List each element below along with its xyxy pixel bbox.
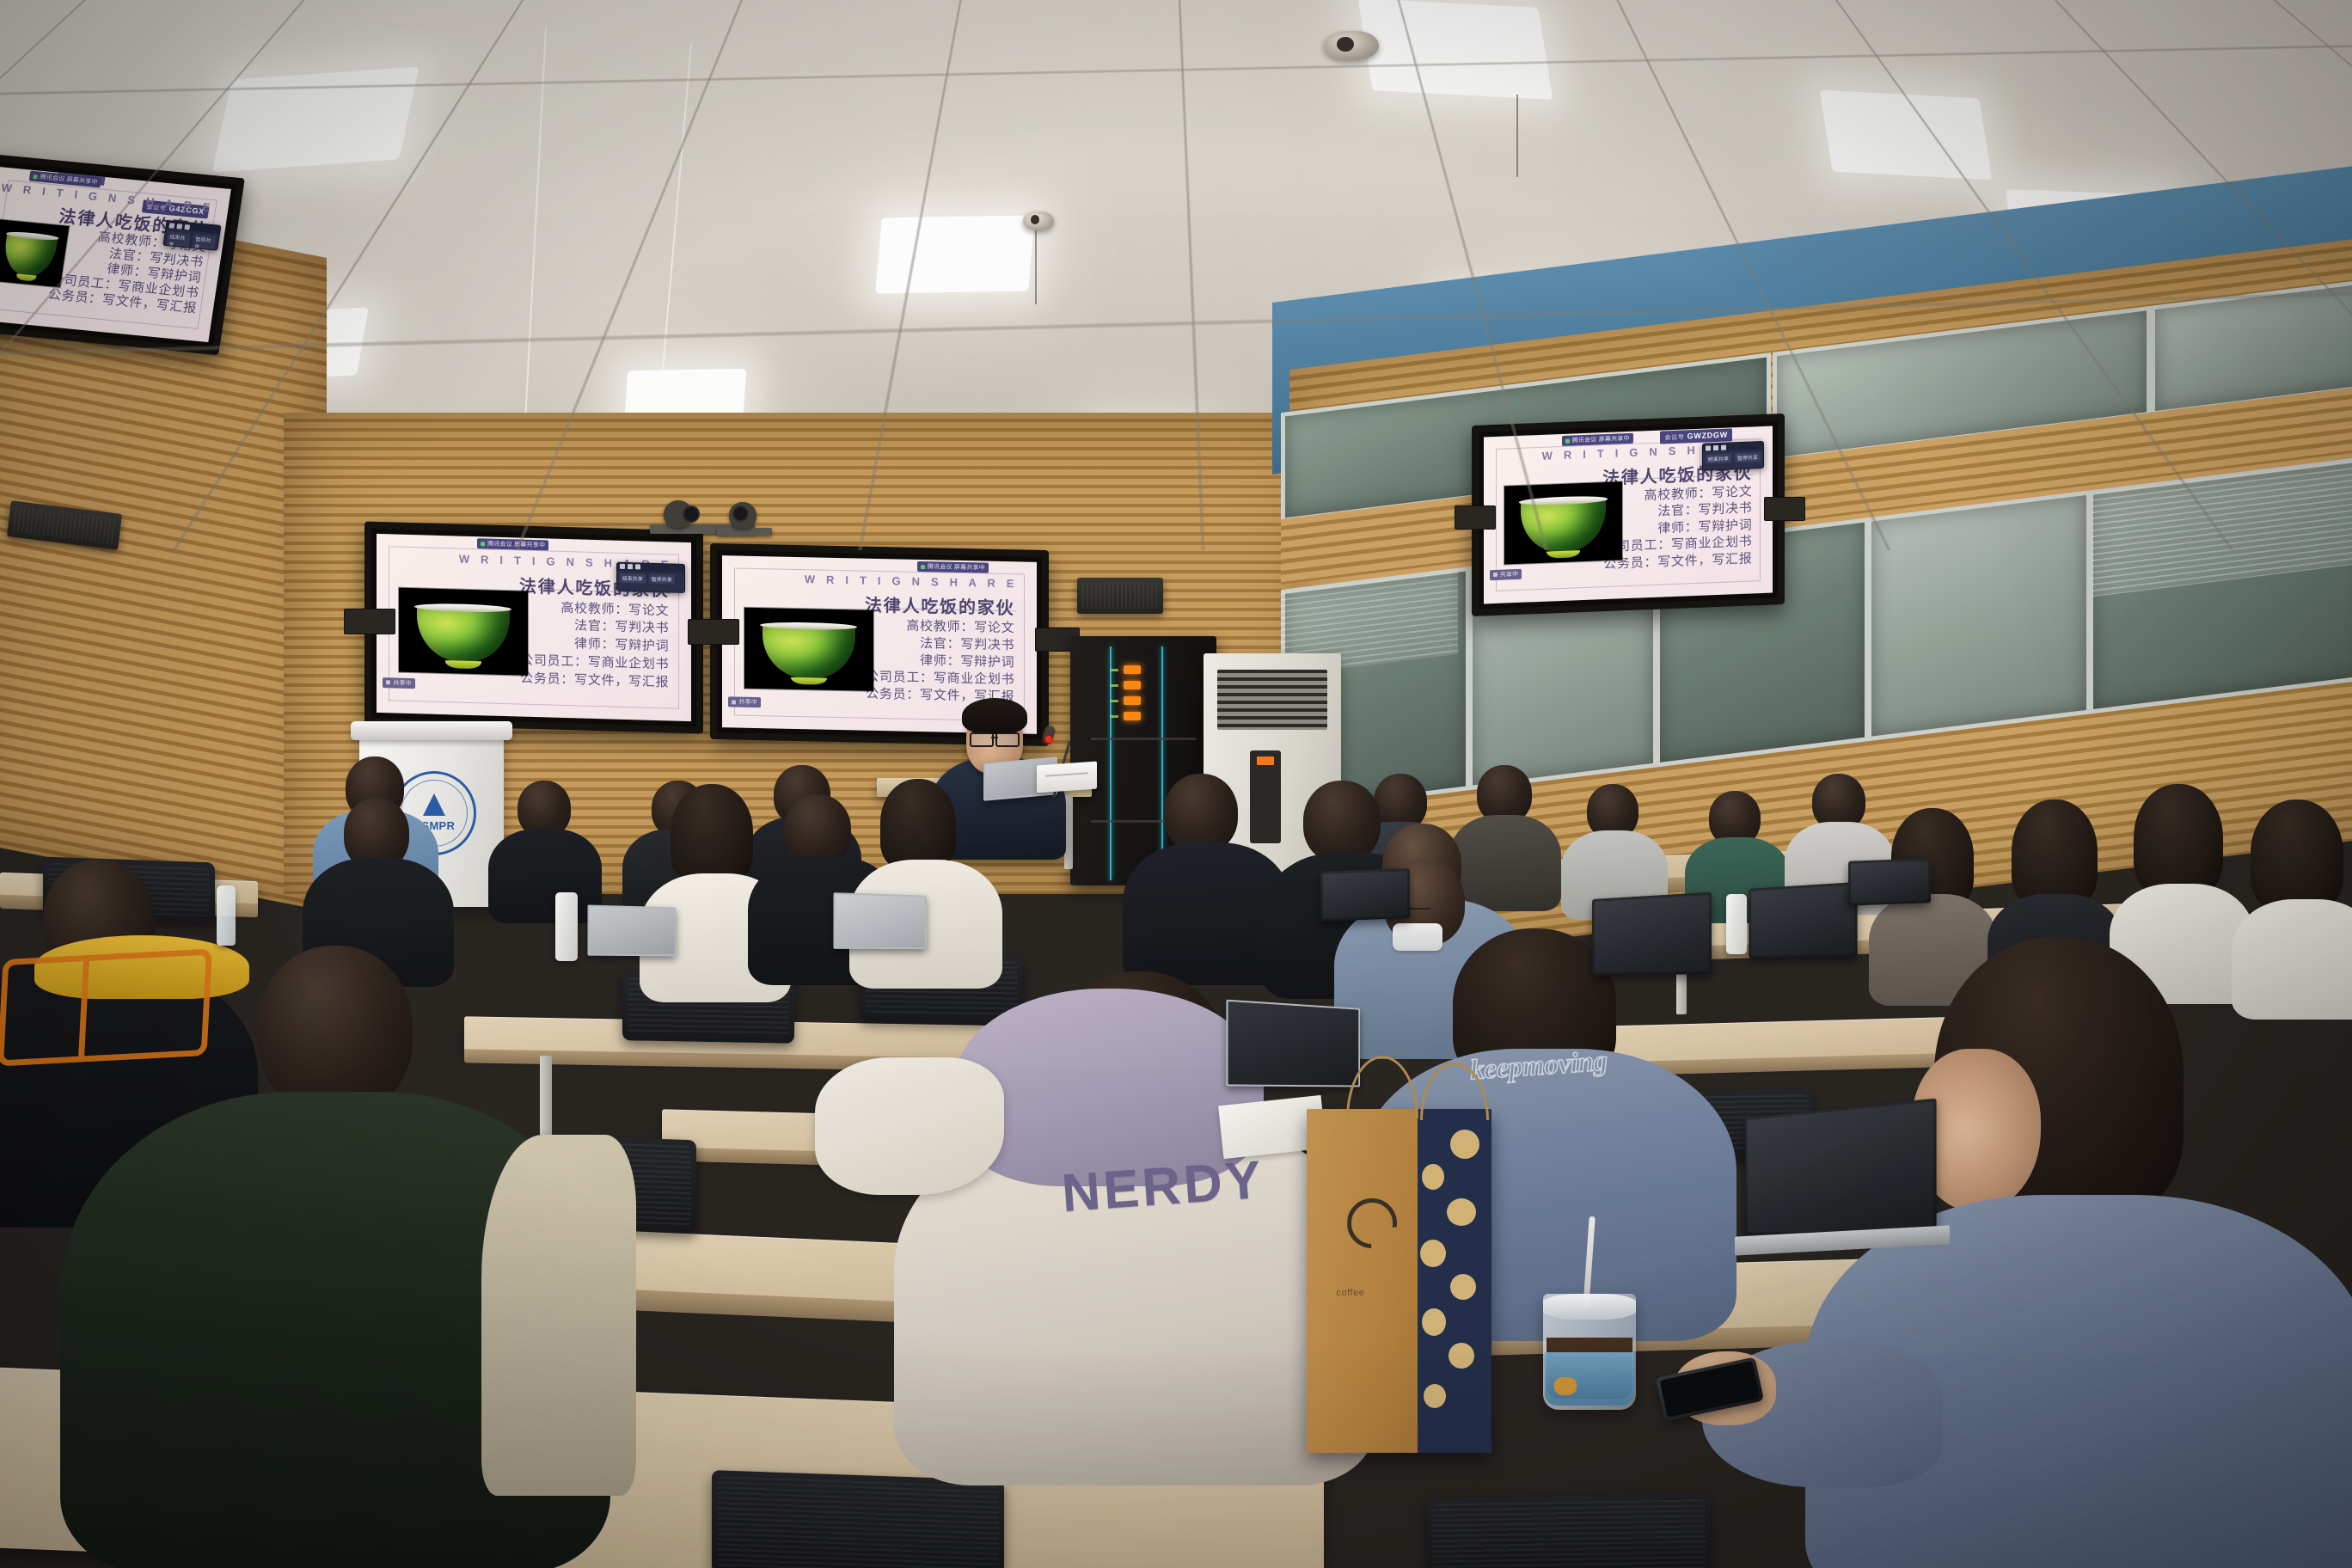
share-dot-icon [1493,573,1498,577]
share-status-chip: 腾讯会议 屏幕共享中 [477,538,548,550]
bag-brand-text: coffee [1336,1288,1364,1298]
share-dot-icon [33,174,38,178]
pause-share-button[interactable]: 暂停共享 [649,574,675,585]
rack-port-led [1110,715,1118,718]
bowl-foot [16,274,37,282]
face-mask-icon [1393,923,1442,951]
emblem-tower-icon [423,793,445,816]
laptop-screen [590,907,675,955]
rack-status-led [1124,665,1141,674]
share-control-window[interactable]: 结束共享 暂停共享 [1702,441,1764,471]
share-control-window[interactable]: 结束共享 暂停共享 [616,562,685,593]
student-head [1303,781,1381,863]
meeting-room-code: 会议号GWZDGW [1660,428,1731,444]
ceiling-light-panel [1358,0,1553,100]
rack-status-led [1124,681,1141,689]
student-hair [2251,799,2343,911]
porcelain-bowl-image [763,624,855,679]
student-laptop[interactable] [1592,892,1712,976]
classroom-scene: 腾讯会议 屏幕共享中 会议号G4ZCGX W R I T I G N S H A… [0,0,2352,1568]
corner-share-chip: 共享中 [728,696,761,707]
chair [1427,1493,1711,1568]
slide-right-monitor: 腾讯会议 屏幕共享中 会议号GWZDGW W R I T I G N S H A… [1484,426,1773,604]
slide-bowl-photo [744,608,873,691]
bag-brand-logo-icon [1347,1198,1397,1248]
laptop-screen [1228,1001,1359,1086]
student-hair [2012,799,2098,908]
porcelain-bowl-image [417,605,510,664]
porcelain-bowl-image [2,233,58,279]
rack-led-strip [1161,646,1163,881]
rack-port-led [1110,684,1118,687]
student-torso [2232,899,2352,1020]
student-laptop[interactable] [1749,882,1857,959]
rack-status-led [1124,712,1141,720]
slide-bowl-photo [399,588,528,676]
student-laptop[interactable] [588,905,677,957]
laptop-screen [1751,885,1854,955]
wall-monitor-left[interactable]: 腾讯会议 屏幕共享中 会议号G4ZCGX W R I T I G N S H A… [0,154,245,356]
student-laptop[interactable] [1848,858,1931,905]
window-pane [1867,490,2091,741]
end-share-button[interactable]: 结束共享 [620,573,646,584]
bowl-foot [1547,550,1580,559]
laptop-screen [1748,1101,1933,1233]
share-status-chip: 腾讯会议 屏幕共享中 [917,561,989,573]
wall-monitor-right[interactable]: 腾讯会议 屏幕共享中 会议号GWZDGW W R I T I G N S H A… [1472,413,1785,616]
student-torso [488,829,602,923]
smoke-detector-icon [1324,31,1379,60]
screen-mount-bracket [344,609,395,634]
corner-chip-label: 共享中 [738,698,757,707]
desk-leg [540,1056,552,1138]
bag-dot [1450,1274,1476,1300]
slide-front-left: 腾讯会议 屏幕共享中 W R I T I G N S H A R E 法律人吃饭… [377,534,691,721]
laptop-screen [1595,895,1709,973]
slide-title: 法律人吃饭的家伙 [865,591,1014,620]
bag-dot [1422,1308,1446,1336]
rack-led-strip [1110,646,1112,881]
bag-dot [1424,1384,1446,1408]
pause-share-button[interactable]: 暂停共享 [1735,453,1761,463]
rack-shelf [1091,738,1196,740]
monitor-mount-bracket [1764,497,1805,521]
share-chip-label: 腾讯会议 屏幕共享中 [1572,434,1630,445]
camera-lens-icon [683,505,700,523]
mic-active-led [1045,736,1052,743]
laptop-screen [1323,871,1407,918]
bag-dot [1450,1130,1479,1159]
ceiling-light-panel [875,215,1035,293]
ceiling-wire [1035,230,1037,304]
laptop-screen [836,894,925,947]
bag-dot [1422,1164,1444,1190]
student-laptop[interactable] [1320,868,1410,922]
jacket-orange-graphic [0,948,212,1066]
chair-mesh [717,1476,999,1568]
ceiling-wire [1516,95,1518,177]
bag-dot [1420,1240,1446,1267]
bowl-foot [445,661,481,670]
bag-dot [1447,1198,1476,1226]
drink-cup [1543,1294,1636,1410]
share-chip-label: 腾讯会议 屏幕共享中 [487,539,545,549]
porcelain-bowl-image [1521,498,1606,553]
corner-chip-label: 共享中 [393,678,412,688]
room-code-value: GWZDGW [1687,431,1728,441]
student-head [258,946,413,1114]
front-screen-left[interactable]: 腾讯会议 屏幕共享中 W R I T I G N S H A R E 法律人吃饭… [364,521,703,733]
student-laptop[interactable] [1745,1099,1936,1235]
student-torso [1449,815,1561,911]
student-laptop[interactable] [1226,1000,1360,1087]
end-share-button[interactable]: 结束共享 [1706,454,1731,464]
laptop-screen [1851,861,1928,903]
slide-bowl-photo [1504,481,1623,564]
student-hair [671,784,753,884]
rack-status-led [1124,696,1141,705]
cup-sleeve-art [1545,1352,1634,1406]
ceiling-light-panel [1820,90,1993,181]
vest-shoulder-beige [481,1135,636,1496]
corner-share-chip: 共享中 [383,677,415,689]
podium-top [351,721,512,740]
ac-vent-grille [1217,670,1327,730]
ceiling-light-panel [212,66,419,172]
screen-mount-bracket [688,619,739,645]
rack-port-led [1110,700,1118,702]
share-dot-icon [386,681,390,685]
smoke-detector-icon [1023,211,1054,230]
white-scarf [815,1057,1004,1195]
desk-nameplate [1037,762,1097,793]
camera-lens-icon [732,505,749,522]
share-dot-icon [921,565,925,569]
bowl-foot [791,677,827,685]
presenter-hair [962,698,1027,734]
bag-dot [1449,1343,1474,1369]
corner-share-chip: 共享中 [1490,569,1522,580]
share-dot-icon [1565,438,1570,443]
student-head [1164,774,1238,853]
wall-speaker-front [1077,578,1163,614]
student-hair [2134,784,2223,896]
ac-control-panel[interactable] [1250,750,1280,843]
chair-mesh [1432,1499,1706,1568]
vacuum-flask [555,892,578,961]
share-dot-icon [732,700,736,704]
monitor-mount-bracket [1455,505,1496,530]
corner-chip-label: 共享中 [1500,570,1519,579]
slide-left-monitor: 腾讯会议 屏幕共享中 会议号G4ZCGX W R I T I G N S H A… [0,167,231,342]
student-laptop[interactable] [833,892,926,949]
share-window-body: 结束共享 暂停共享 [617,571,677,587]
share-dot-icon [481,542,485,546]
pause-share-button[interactable]: 暂停共享 [191,234,216,251]
rack-port-led [1110,669,1118,671]
cup-lid [1543,1294,1636,1320]
share-chip-label: 腾讯会议 屏幕共享中 [928,562,985,572]
bag-side-panel [1418,1109,1491,1453]
slide-bowl-photo [0,219,70,287]
share-window-body: 结束共享 暂停共享 [1703,450,1763,467]
room-code-prefix: 会议号 [1664,434,1684,441]
presenter-glasses-icon [970,732,1020,744]
share-control-window[interactable]: 结束共享 暂停共享 [162,220,221,251]
student-hair [880,779,956,870]
vacuum-flask [1726,894,1747,954]
camera-mount-bar [717,528,772,536]
paper-shopping-bag: coffee [1307,1109,1491,1453]
water-bottle [217,885,236,946]
